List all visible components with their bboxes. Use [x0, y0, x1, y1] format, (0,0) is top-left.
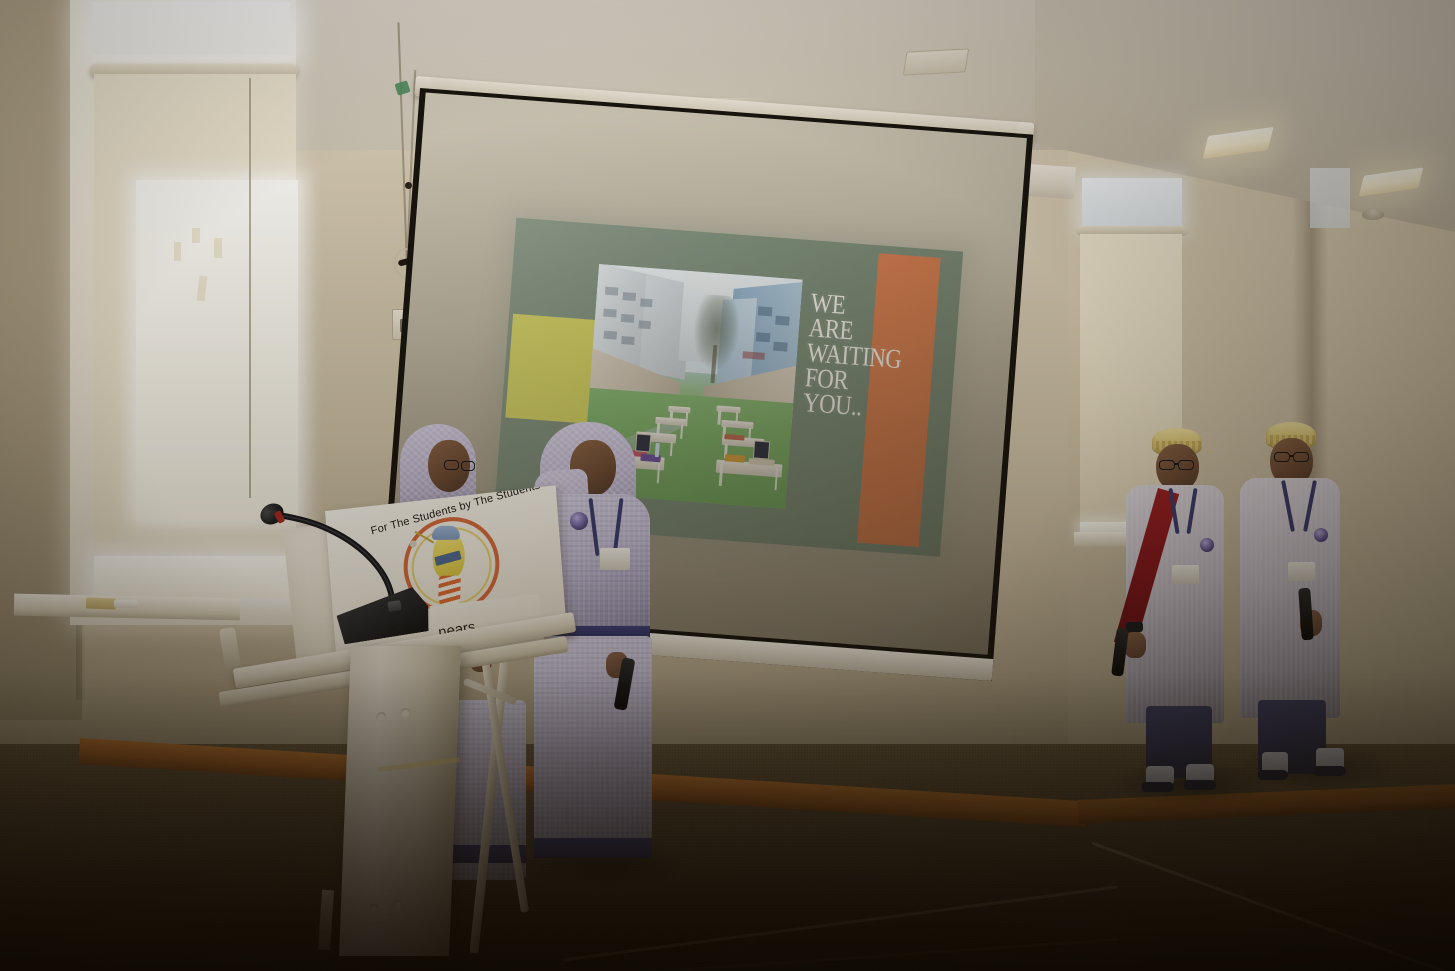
podium-column — [339, 646, 461, 956]
podium-screw — [376, 712, 386, 722]
photo-window — [604, 331, 618, 340]
air-vent — [903, 48, 969, 75]
microphone-indicator-led — [387, 600, 401, 612]
gooseneck-microphone-arm[interactable] — [268, 512, 398, 604]
photo-chalkboard-sign — [753, 440, 770, 459]
glasses-lens-right — [1178, 460, 1194, 470]
slide-yellow-block — [505, 314, 596, 424]
school-badge — [570, 512, 588, 530]
photo-window — [623, 292, 637, 301]
photo-window — [603, 309, 617, 318]
blind-pull-cord[interactable] — [249, 78, 251, 498]
podium-screw — [393, 900, 403, 910]
boy-shoe-left — [1258, 770, 1288, 780]
glasses-lens-right — [1293, 452, 1309, 462]
photo-window — [773, 342, 788, 352]
photo-window — [640, 298, 653, 307]
photo-chalkboard-sign — [635, 433, 651, 452]
smoke-detector — [1362, 209, 1384, 220]
boy-shoe-right — [1314, 766, 1346, 776]
tape-mark-1 — [192, 228, 200, 243]
photo-window — [621, 336, 635, 345]
podium-screw — [369, 904, 379, 914]
photo-window — [621, 314, 635, 323]
glasses-lens-left — [1159, 460, 1175, 470]
photo-stall-table — [716, 405, 740, 413]
photo-window — [605, 287, 619, 296]
photo-window — [638, 320, 651, 329]
glasses-bridge — [1175, 463, 1179, 465]
whiteboard-eraser[interactable] — [86, 597, 116, 609]
photo-window — [758, 306, 773, 316]
presentation-room-photo: WE ARE WAITING FOR YOU.. — [0, 0, 1455, 971]
window-right-top-glass — [1082, 178, 1182, 230]
floor-marking-line — [562, 885, 1118, 961]
girl-hem-navy-band — [534, 838, 652, 858]
window-bright-pane — [136, 180, 298, 520]
slide-headline: WE ARE WAITING FOR YOU.. — [802, 290, 892, 421]
tape-mark-2 — [174, 242, 181, 261]
glasses-lens-right — [461, 461, 475, 471]
window-far-right — [1310, 168, 1350, 228]
photo-stall-goods — [725, 454, 745, 462]
id-card — [600, 548, 630, 570]
window-top-glass — [92, 2, 290, 54]
school-badge — [1314, 528, 1328, 542]
wristwatch — [1126, 622, 1143, 632]
floor-marking-line — [1092, 842, 1455, 971]
marker-pen[interactable] — [114, 600, 138, 609]
id-card — [1172, 565, 1199, 584]
tape-mark-3 — [214, 238, 222, 258]
glasses-bridge — [1290, 455, 1294, 457]
id-card — [1288, 562, 1315, 581]
photo-stall-table — [668, 406, 690, 414]
roller-blind-left[interactable] — [94, 74, 296, 554]
photo-window — [756, 332, 771, 342]
window-left — [70, 0, 296, 625]
glasses-lens-left — [444, 460, 459, 470]
slide-headline-line: YOU.. — [802, 390, 884, 421]
girl-lower-robe — [534, 636, 652, 854]
glasses-lens-left — [1274, 452, 1290, 462]
tape-mark-4 — [197, 276, 208, 302]
cable-clip — [405, 182, 412, 189]
boy-shoe-right — [1184, 780, 1216, 790]
photo-window — [775, 316, 790, 326]
photo-tree — [692, 294, 741, 371]
lightbulb-thread-icon — [438, 576, 461, 606]
school-badge — [1200, 538, 1214, 552]
boy-shoe-left — [1142, 782, 1174, 792]
podium-screw — [400, 708, 410, 718]
